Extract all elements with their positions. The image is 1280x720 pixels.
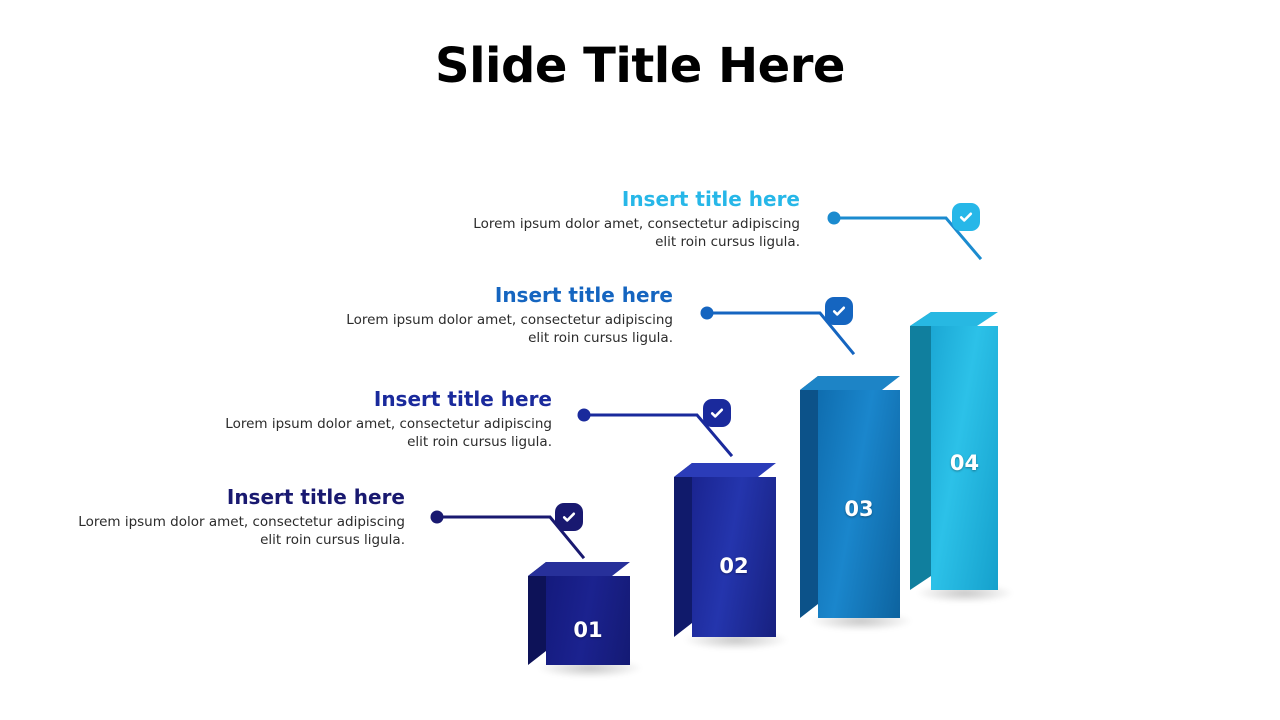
text-block-03: Insert title here Lorem ipsum dolor amet… bbox=[343, 282, 673, 347]
item-description-03: Lorem ipsum dolor amet, consectetur adip… bbox=[343, 311, 673, 347]
bar-label-01: 01 bbox=[546, 618, 630, 642]
text-block-04: Insert title here Lorem ipsum dolor amet… bbox=[470, 186, 800, 251]
bar-column-04[interactable]: 04 bbox=[931, 326, 998, 590]
check-icon bbox=[958, 209, 974, 225]
item-title-04: Insert title here bbox=[470, 186, 800, 212]
bar-column-02[interactable]: 02 bbox=[692, 477, 776, 637]
bar-column-01[interactable]: 01 bbox=[546, 576, 630, 665]
bar-label-04: 04 bbox=[931, 451, 998, 475]
check-icon bbox=[561, 509, 577, 525]
item-description-02: Lorem ipsum dolor amet, consectetur adip… bbox=[222, 415, 552, 451]
bar-side-face-02 bbox=[674, 463, 694, 639]
check-badge-04[interactable] bbox=[952, 203, 980, 231]
item-description-04: Lorem ipsum dolor amet, consectetur adip… bbox=[470, 215, 800, 251]
bar-label-02: 02 bbox=[692, 554, 776, 578]
page-title: Slide Title Here bbox=[0, 38, 1280, 94]
bar-side-face-03 bbox=[800, 376, 820, 620]
item-title-01: Insert title here bbox=[75, 484, 405, 510]
item-title-02: Insert title here bbox=[222, 386, 552, 412]
text-block-02: Insert title here Lorem ipsum dolor amet… bbox=[222, 386, 552, 451]
connector-dot-3 bbox=[701, 307, 714, 320]
check-icon bbox=[709, 405, 725, 421]
item-description-01: Lorem ipsum dolor amet, consectetur adip… bbox=[75, 513, 405, 549]
bar-label-03: 03 bbox=[818, 497, 900, 521]
item-title-03: Insert title here bbox=[343, 282, 673, 308]
check-badge-03[interactable] bbox=[825, 297, 853, 325]
check-badge-02[interactable] bbox=[703, 399, 731, 427]
connector-dot-2 bbox=[578, 409, 591, 422]
bar-side-face-04 bbox=[910, 312, 933, 592]
connector-dot-4 bbox=[828, 212, 841, 225]
connector-lines bbox=[0, 0, 1280, 720]
check-badge-01[interactable] bbox=[555, 503, 583, 531]
check-icon bbox=[831, 303, 847, 319]
connector-dot-1 bbox=[431, 511, 444, 524]
bar-column-03[interactable]: 03 bbox=[818, 390, 900, 618]
text-block-01: Insert title here Lorem ipsum dolor amet… bbox=[75, 484, 405, 549]
slide-canvas: Slide Title Here bbox=[0, 0, 1280, 720]
